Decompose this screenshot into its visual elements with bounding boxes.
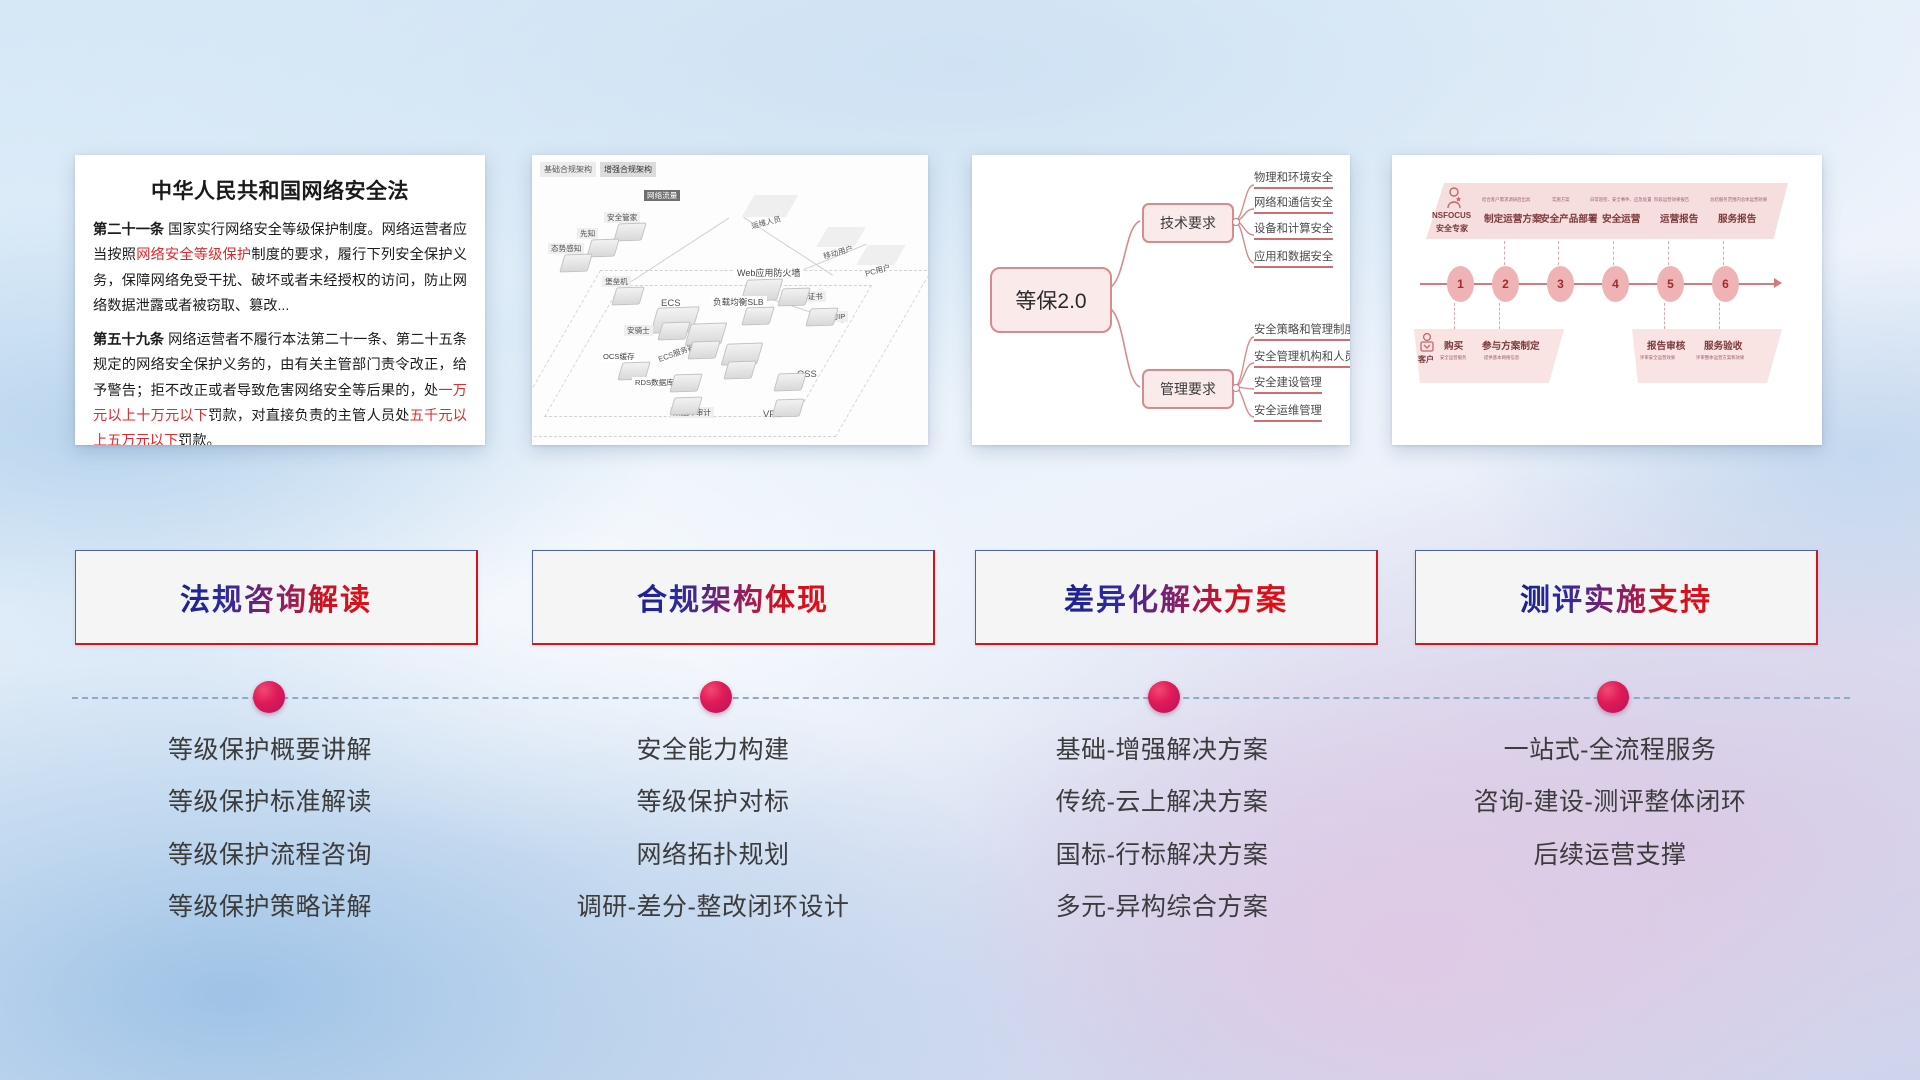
architecture-label-xianzhi: 先知 (577, 228, 598, 239)
list-item: 一站式-全流程服务 (1390, 735, 1830, 766)
list-item: 传统-云上解决方案 (942, 787, 1382, 818)
architecture-diagram: 基础合规架构 增强合规架构 网络流量 安全管家 先知 态势感知 堡垒机 ECS (532, 155, 928, 445)
architecture-label-security-manager: 安全管家 (604, 212, 640, 223)
mindmap: 等保2.0 技术要求 物理和环境安全 网络和通信安全 设备和计算安全 应用和数据… (972, 155, 1350, 445)
process-connector-6 (1723, 241, 1724, 265)
detail-column-2: 安全能力构建 等级保护对标 网络拓扑规划 调研-差分-整改闭环设计 (493, 735, 933, 944)
process-node-2[interactable]: 2 (1492, 266, 1519, 302)
list-item: 安全能力构建 (493, 735, 933, 766)
architecture-node-slb (741, 307, 775, 326)
detail-column-3: 基础-增强解决方案 传统-云上解决方案 国标-行标解决方案 多元-异构综合方案 (942, 735, 1382, 944)
timeline-dashed-line (72, 697, 1850, 699)
law-article-21: 第二十一条 国家实行网络安全等级保护制度。网络运营者应当按照网络安全等级保护制度… (93, 218, 467, 319)
process-top-note-5: 总结服务范围内总体运营效果 (1710, 197, 1767, 203)
list-item: 国标-行标解决方案 (942, 840, 1382, 871)
process-top-title-5: 服务报告 (1718, 211, 1756, 225)
security-expert-icon (1444, 187, 1464, 209)
mindmap-branch-management: 管理要求 (1142, 369, 1234, 409)
mindmap-leaf-device-compute: 设备和计算安全 (1254, 222, 1333, 240)
process-connector-1-down (1454, 303, 1455, 329)
heading-label-3: 差异化解决方案 (1064, 575, 1288, 619)
mindmap-leaf-physical-env: 物理和环境安全 (1254, 171, 1333, 189)
heading-box-assessment-support[interactable]: 测评实施支持 (1415, 550, 1818, 645)
timeline-dot-4[interactable] (1597, 681, 1629, 713)
card-compliance-architecture[interactable]: 基础合规架构 增强合规架构 网络流量 安全管家 先知 态势感知 堡垒机 ECS (532, 155, 928, 445)
architecture-label-ocs: OCS缓存 (600, 351, 638, 362)
mindmap-leaf-org-personnel: 安全管理机构和人员 (1254, 350, 1350, 368)
architecture-label-traffic: 网络流量 (644, 190, 680, 201)
law-article-59-text-b: 罚款，对直接负责的主管人员处 (208, 408, 409, 424)
architecture-tab-basic[interactable]: 基础合规架构 (540, 162, 596, 177)
heading-box-differentiated-solution[interactable]: 差异化解决方案 (975, 550, 1378, 645)
architecture-plate-pc (856, 245, 906, 265)
architecture-node-situational-awareness (559, 254, 593, 273)
process-top-title-4: 运营报告 (1660, 211, 1698, 225)
mindmap-leaf-construction: 安全建设管理 (1254, 376, 1322, 394)
process-node-5[interactable]: 5 (1657, 266, 1684, 302)
mindmap-leaf-operations: 安全运维管理 (1254, 404, 1322, 422)
law-article-59-text-c: 罚款。 (178, 433, 221, 445)
timeline-dot-1[interactable] (253, 681, 285, 713)
process-bottom-note-3: 评审安全运营效果 (1640, 355, 1675, 361)
process-node-6[interactable]: 6 (1712, 266, 1739, 302)
architecture-label-bastion: 堡垒机 (602, 276, 631, 287)
process-bottom-note-2: 提供基本网络信息 (1484, 355, 1519, 361)
process-node-1[interactable]: 1 (1447, 266, 1474, 302)
process-top-note-1: 结合客户需求调研后出具 (1482, 197, 1530, 203)
card-service-process[interactable]: NSFOCUS 安全专家 结合客户需求调研后出具 制定运营方案 实施方案 安全产… (1392, 155, 1822, 445)
heading-box-regulation-consulting[interactable]: 法规咨询解读 (75, 550, 478, 645)
law-article-21-highlight: 网络安全等级保护 (136, 247, 251, 263)
process-connector-5-down (1664, 303, 1665, 329)
list-item: 等级保护策略详解 (50, 892, 490, 923)
process-top-note-4: 阶段运营效果报告 (1654, 197, 1689, 203)
list-item: 等级保护概要讲解 (50, 735, 490, 766)
list-item: 等级保护对标 (493, 787, 933, 818)
process-bottom-note-4: 评审整体运营方案和效果 (1696, 355, 1744, 361)
architecture-plate-ops (742, 195, 799, 217)
mindmap-collapse-dot-management[interactable] (1232, 384, 1240, 392)
law-title: 中华人民共和国网络安全法 (93, 175, 467, 205)
list-item: 基础-增强解决方案 (942, 735, 1382, 766)
law-article-59: 第五十九条 网络运营者不履行本法第二十一条、第二十五条规定的网络安全保护义务的，… (93, 328, 467, 445)
detail-column-1: 等级保护概要讲解 等级保护标准解读 等级保护流程咨询 等级保护策略详解 (50, 735, 490, 944)
architecture-node-cluster-2 (687, 341, 721, 360)
process-bottom-title-3: 报告审核 (1647, 338, 1685, 352)
list-item: 调研-差分-整改闭环设计 (493, 892, 933, 923)
detail-column-4: 一站式-全流程服务 咨询-建设-测评整体闭环 后续运营支撑 (1390, 735, 1830, 892)
mindmap-leaf-app-data: 应用和数据安全 (1254, 250, 1333, 268)
process-diagram: NSFOCUS 安全专家 结合客户需求调研后出具 制定运营方案 实施方案 安全产… (1392, 155, 1822, 445)
architecture-node-cluster-4 (723, 361, 757, 380)
expert-role-line2: 安全专家 (1436, 223, 1468, 234)
architecture-tab-enhanced[interactable]: 增强合规架构 (600, 162, 656, 177)
process-bottom-title-1: 购买 (1444, 338, 1463, 352)
heading-label-1: 法规咨询解读 (180, 575, 372, 619)
card-mindmap-dengbao[interactable]: 等保2.0 技术要求 物理和环境安全 网络和通信安全 设备和计算安全 应用和数据… (972, 155, 1350, 445)
timeline-dot-2[interactable] (700, 681, 732, 713)
law-body: 中华人民共和国网络安全法 第二十一条 国家实行网络安全等级保护制度。网络运营者应… (75, 155, 485, 445)
customer-icon (1418, 333, 1436, 353)
list-item: 咨询-建设-测评整体闭环 (1390, 787, 1830, 818)
process-bottom-title-2: 参与方案制定 (1482, 338, 1540, 352)
mindmap-root: 等保2.0 (990, 267, 1112, 333)
process-top-note-2: 实施方案 (1552, 197, 1570, 203)
architecture-node-rds (669, 374, 703, 393)
law-article-21-label: 第二十一条 (93, 222, 164, 238)
process-node-4[interactable]: 4 (1602, 266, 1629, 302)
list-item: 等级保护流程咨询 (50, 840, 490, 871)
process-connector-5 (1668, 241, 1669, 265)
architecture-node-bastion (611, 287, 645, 306)
heading-label-2: 合规架构体现 (637, 575, 829, 619)
process-bottom-title-4: 服务验收 (1704, 338, 1742, 352)
architecture-label-anqishi: 安骑士 (624, 325, 653, 336)
mindmap-branch-technical: 技术要求 (1142, 203, 1234, 243)
mindmap-leaf-policy-system: 安全策略和管理制度 (1254, 323, 1350, 341)
process-connector-2 (1504, 241, 1505, 265)
architecture-label-situational-awareness: 态势感知 (548, 243, 584, 254)
architecture-node-db-audit (669, 397, 703, 416)
law-article-59-label: 第五十九条 (93, 332, 164, 348)
architecture-plate-mobile (816, 227, 866, 247)
process-axis-arrow-icon (1774, 278, 1782, 288)
process-top-title-2: 安全产品部署 (1540, 211, 1598, 225)
expert-role-line1: NSFOCUS (1432, 211, 1471, 220)
process-connector-3 (1558, 241, 1559, 265)
process-top-note-3: 日常巡检、安全事件、应急处置 (1590, 197, 1651, 203)
process-node-3[interactable]: 3 (1547, 266, 1574, 302)
architecture-node-vpc (771, 399, 805, 418)
process-connector-6-down (1719, 303, 1720, 329)
architecture-tabs[interactable]: 基础合规架构 增强合规架构 (540, 162, 656, 177)
list-item: 后续运营支撑 (1390, 840, 1830, 871)
process-top-title-3: 安全运营 (1602, 211, 1640, 225)
architecture-node-anti-ddos (805, 308, 839, 327)
heading-box-compliance-architecture[interactable]: 合规架构体现 (532, 550, 935, 645)
heading-label-4: 测评实施支持 (1520, 575, 1712, 619)
mindmap-collapse-dot-technical[interactable] (1232, 218, 1240, 226)
process-connector-4 (1613, 241, 1614, 265)
timeline-dot-3[interactable] (1148, 681, 1180, 713)
customer-role-label: 客户 (1418, 354, 1434, 365)
architecture-node-oss (773, 373, 807, 392)
mindmap-leaf-network-comm: 网络和通信安全 (1254, 196, 1333, 214)
architecture-node-ca (777, 288, 811, 307)
process-connector-2-down (1499, 303, 1500, 329)
card-cybersecurity-law[interactable]: 中华人民共和国网络安全法 第二十一条 国家实行网络安全等级保护制度。网络运营者应… (75, 155, 485, 445)
list-item: 网络拓扑规划 (493, 840, 933, 871)
process-bottom-note-1: 安全运营服务 (1440, 355, 1466, 361)
list-item: 等级保护标准解读 (50, 787, 490, 818)
list-item: 多元-异构综合方案 (942, 892, 1382, 923)
process-top-title-1: 制定运营方案 (1484, 211, 1542, 225)
